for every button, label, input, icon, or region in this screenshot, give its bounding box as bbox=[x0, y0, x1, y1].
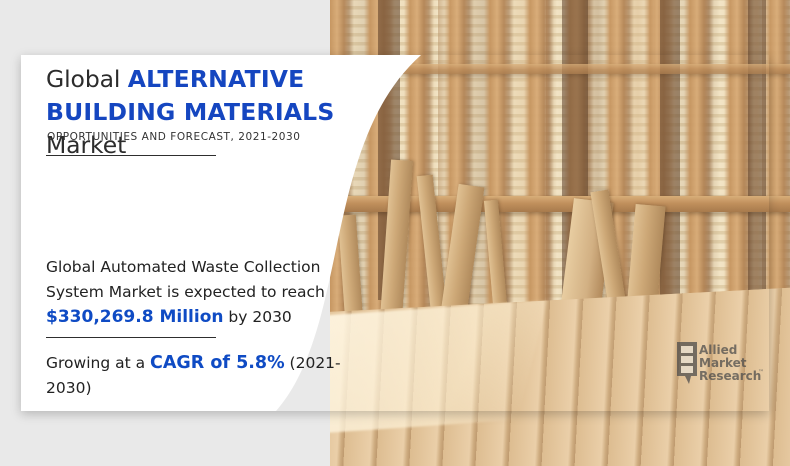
cagr-lead: Growing at a bbox=[46, 354, 150, 372]
stat-lead: Global Automated Waste Collection System… bbox=[46, 258, 325, 301]
headline-prefix: Global bbox=[46, 65, 128, 93]
market-value-statement: Global Automated Waste Collection System… bbox=[46, 255, 376, 330]
stat-value: $330,269.8 Million bbox=[46, 307, 223, 327]
stat-trail: by 2030 bbox=[223, 308, 291, 326]
content-card: Global ALTERNATIVE BUILDING MATERIALS Ma… bbox=[21, 55, 769, 411]
page-title: Global ALTERNATIVE BUILDING MATERIALS Ma… bbox=[46, 63, 416, 162]
banner-stage: Allied Market Research ™ Global ALTERNAT… bbox=[0, 0, 790, 466]
divider-bottom bbox=[46, 337, 216, 338]
card-content: Global ALTERNATIVE BUILDING MATERIALS Ma… bbox=[21, 55, 451, 411]
subtitle: OPPORTUNITIES AND FORECAST, 2021-2030 bbox=[47, 131, 300, 143]
divider-top bbox=[46, 155, 216, 156]
cagr-statement: Growing at a CAGR of 5.8% (2021-2030) bbox=[46, 351, 376, 401]
cagr-value: CAGR of 5.8% bbox=[150, 353, 285, 373]
